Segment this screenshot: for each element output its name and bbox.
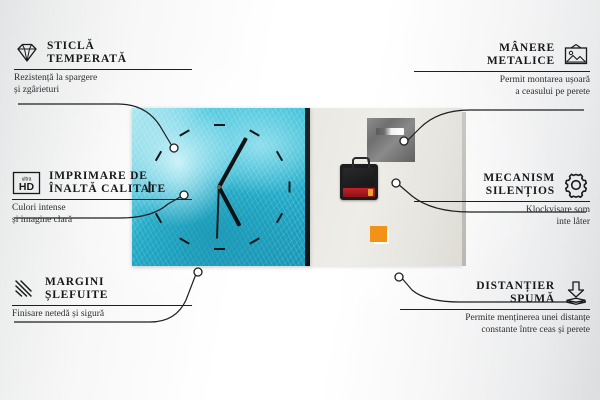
ultra-hd-icon: ultra HD [12, 171, 42, 195]
feature-divider [414, 201, 590, 202]
feature-subtitle-line2: și imagine clară [12, 215, 192, 227]
feature-title-line2: SPUMĂ [476, 293, 555, 306]
feature-subtitle-line1: Permite menținerea unei distanțe [400, 313, 590, 325]
feature-title-line1: IMPRIMARE DE [49, 170, 166, 183]
clock-mechanism [340, 164, 378, 200]
feature-tempered-glass: STICLĂ TEMPERATĂ Rezistență la spargere … [14, 40, 192, 96]
hanger-slot [376, 128, 404, 135]
ultra-hd-large-text: HD [19, 181, 35, 193]
feature-silent-mechanism: MECANISM SILENȚIOS Klockvisare som inte … [414, 172, 590, 228]
feature-subtitle-line2: a ceasului pe perete [414, 87, 590, 99]
feature-divider [12, 199, 192, 200]
feature-title-line2: ȘLEFUITE [45, 289, 108, 302]
feature-title-line2: METALICE [487, 55, 555, 68]
feature-header: MECANISM SILENȚIOS [414, 172, 590, 198]
feature-subtitle-line1: Rezistență la spargere [14, 73, 192, 85]
clock-tick [214, 248, 225, 250]
battery [343, 188, 375, 197]
clock-tick [249, 130, 260, 137]
feature-header: DISTANȚIER SPUMĂ [400, 280, 590, 306]
feature-title-line2: ÎNALTĂ CALITATE [49, 183, 166, 196]
feature-divider [400, 309, 590, 310]
wire-endpoint-left-3 [194, 268, 202, 276]
feature-header: MÂNERE METALICE [414, 42, 590, 68]
feature-subtitle-line2: inte låter [414, 217, 590, 229]
feature-foam-spacer: DISTANȚIER SPUMĂ Permite menținerea unei… [400, 280, 590, 336]
beveled-edge-icon [12, 278, 38, 300]
feature-divider [12, 305, 192, 306]
feature-subtitle-line1: Klockvisare som [414, 205, 590, 217]
gear-icon [562, 172, 590, 198]
foam-spacer [370, 226, 387, 242]
picture-frame-icon [562, 43, 590, 67]
feature-subtitle-line1: Permit montarea ușoară [414, 75, 590, 87]
battery-terminal [368, 189, 373, 196]
feature-header: STICLĂ TEMPERATĂ [14, 40, 192, 66]
feature-divider [414, 71, 590, 72]
infographic-canvas: STICLĂ TEMPERATĂ Rezistență la spargere … [0, 0, 600, 400]
clock-tick [276, 151, 283, 162]
feature-metal-handles: MÂNERE METALICE Permit montarea ușoară a… [414, 42, 590, 98]
feature-subtitle-line1: Finisare netedă și sigură [12, 309, 192, 321]
feature-header: ultra HD IMPRIMARE DE ÎNALTĂ CALITATE [12, 170, 192, 196]
feature-subtitle-line2: și zgârieturi [14, 85, 192, 97]
clock-tick [214, 124, 225, 126]
feature-title-line1: MARGINI [45, 276, 108, 289]
feature-subtitle-line2: constante între ceas și perete [400, 325, 590, 337]
clock-tick [249, 237, 260, 244]
clock-tick [179, 130, 190, 137]
feature-polished-edges: MARGINI ȘLEFUITE Finisare netedă și sigu… [12, 276, 192, 321]
feature-title-line1: MECANISM [483, 172, 555, 185]
feature-title-line2: SILENȚIOS [483, 185, 555, 198]
mechanism-body [343, 168, 375, 186]
mechanism-hanger-loop [352, 157, 370, 168]
feature-title-line1: STICLĂ [47, 40, 127, 53]
feature-title-line1: DISTANȚIER [476, 280, 555, 293]
clock-tick [288, 182, 290, 193]
clock-hour-hand [217, 186, 241, 227]
feature-subtitle-line1: Culori intense [12, 203, 192, 215]
feature-title-line2: TEMPERATĂ [47, 53, 127, 66]
clock-tick [179, 237, 190, 244]
diamond-icon [14, 42, 40, 64]
feature-divider [14, 69, 192, 70]
feature-header: MARGINI ȘLEFUITE [12, 276, 192, 302]
foam-spacer-icon [562, 280, 590, 306]
clock-center-pin [217, 185, 221, 189]
clock-second-hand [216, 187, 219, 239]
clock-minute-hand [217, 137, 248, 188]
feature-title-line1: MÂNERE [487, 42, 555, 55]
metal-hanger-plate [367, 118, 415, 162]
clock-tick [155, 151, 162, 162]
feature-print-quality: ultra HD IMPRIMARE DE ÎNALTĂ CALITATE Cu… [12, 170, 192, 226]
clock-tick [276, 213, 283, 224]
